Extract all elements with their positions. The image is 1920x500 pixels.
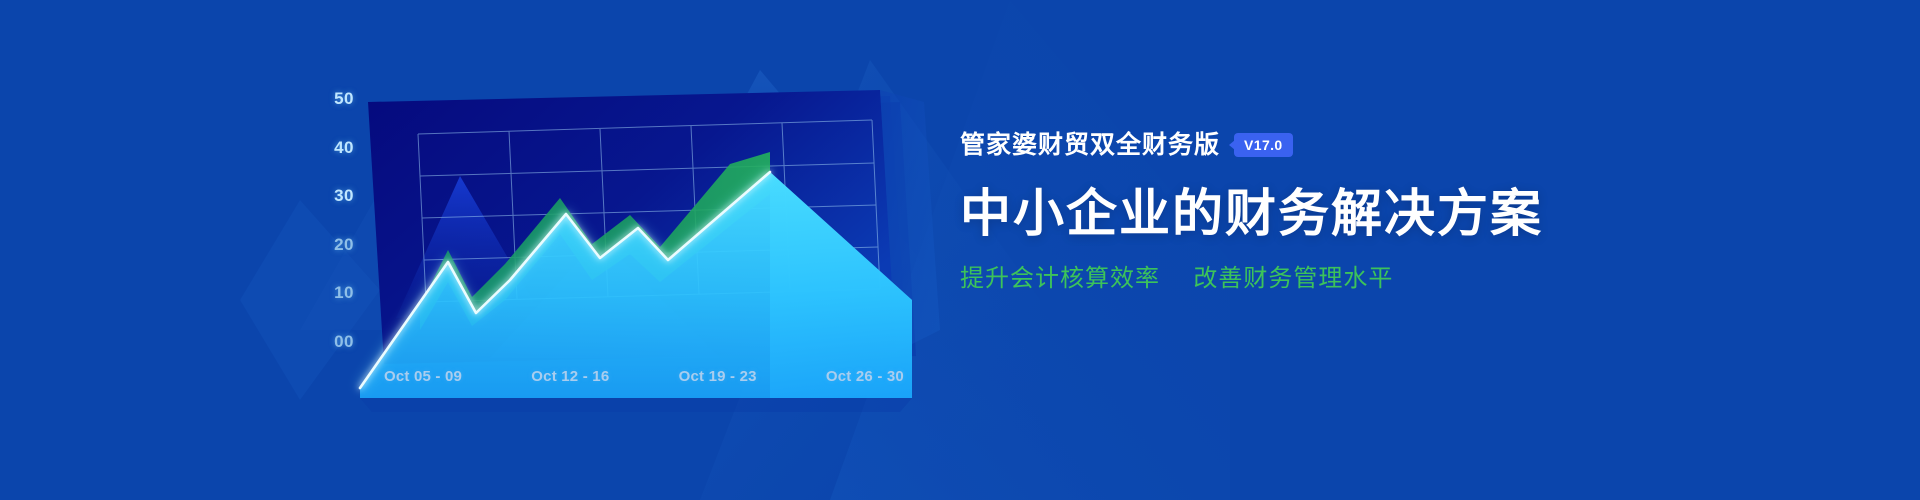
y-tick: 40 — [334, 139, 354, 156]
promo-banner: 50 40 30 20 10 00 Oct 05 - 09 Oct 12 - 1… — [0, 0, 1920, 500]
y-tick: 50 — [334, 90, 354, 107]
promo-copy: 管家婆财贸双全财务版 V17.0 中小企业的财务解决方案 提升会计核算效率 改善… — [960, 130, 1600, 360]
subtitle-part-1: 提升会计核算效率 — [960, 265, 1160, 292]
y-tick: 10 — [334, 284, 354, 301]
analytics-chart: 50 40 30 20 10 00 Oct 05 - 09 Oct 12 - 1… — [300, 68, 1020, 428]
y-tick: 20 — [334, 236, 354, 253]
y-tick: 30 — [334, 187, 354, 204]
product-name: 管家婆财贸双全财务版 — [960, 130, 1220, 160]
y-tick: 00 — [334, 333, 354, 350]
subtitle-part-2: 改善财务管理水平 — [1193, 265, 1393, 292]
x-tick: Oct 12 - 16 — [531, 368, 609, 385]
version-badge: V17.0 — [1234, 133, 1293, 157]
chart-y-axis: 50 40 30 20 10 00 — [308, 90, 354, 350]
brand-row: 管家婆财贸双全财务版 V17.0 — [960, 130, 1600, 160]
x-tick: Oct 19 - 23 — [679, 368, 757, 385]
x-tick: Oct 05 - 09 — [384, 368, 462, 385]
headline: 中小企业的财务解决方案 — [960, 186, 1600, 241]
chart-x-axis: Oct 05 - 09 Oct 12 - 16 Oct 19 - 23 Oct … — [384, 368, 904, 385]
subtitle: 提升会计核算效率 改善财务管理水平 — [960, 265, 1600, 294]
x-tick: Oct 26 - 30 — [826, 368, 904, 385]
